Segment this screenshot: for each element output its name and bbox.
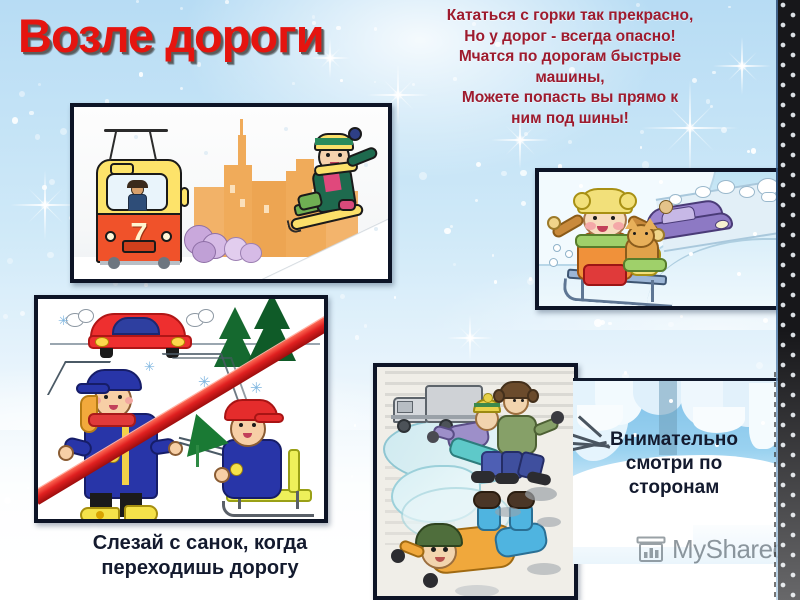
snowflake [374, 27, 378, 31]
snowflake [658, 570, 664, 576]
halftone-edge-fade [778, 0, 800, 600]
snowflake [188, 524, 195, 531]
snowflake [529, 277, 533, 281]
snowflake [7, 258, 13, 264]
snowflake [756, 362, 763, 369]
snowflake [47, 252, 54, 259]
slide-canvas: Возле дороги Кататься с горки так прекра… [0, 0, 800, 600]
snowflake [340, 79, 343, 82]
snowflake [364, 324, 368, 328]
myshared-watermark: MyShared [636, 534, 787, 565]
snowflake [3, 314, 8, 319]
snowflake [12, 117, 19, 124]
image-tram-and-sledding-child[interactable]: 7 [70, 103, 392, 283]
snowflake [355, 335, 359, 339]
snowflake [501, 171, 507, 177]
poem-line-5: Можете попасть вы прямо к [390, 88, 750, 109]
image-girl-pulling-sled-crossed-out[interactable]: ✳ ✳ ✳ ✳ [34, 295, 328, 523]
snowflake [444, 228, 451, 235]
snowflake [336, 26, 341, 31]
snowflake [524, 132, 528, 136]
snowflake [492, 254, 494, 256]
icy-road-illustration [377, 367, 574, 596]
snowflake [19, 91, 25, 97]
snowflake [751, 148, 756, 153]
snowflake [340, 294, 345, 299]
snowflake [763, 318, 768, 323]
snowflake [180, 87, 183, 90]
image-child-with-cat-on-sled-near-road[interactable] [535, 168, 780, 310]
crossed-out-illustration: ✳ ✳ ✳ ✳ [38, 299, 324, 519]
snowflake [640, 130, 644, 134]
snowflake [20, 311, 26, 317]
snowflake [42, 185, 47, 190]
snowflake [568, 140, 572, 144]
caption-right: Внимательно смотри по сторонам [586, 428, 762, 500]
snowflake [354, 424, 356, 426]
snowflake [594, 319, 602, 327]
snowflake [608, 322, 612, 326]
snowflake [476, 162, 482, 168]
snowflake [521, 201, 527, 207]
snowflake [624, 371, 627, 374]
snowflake [453, 263, 456, 266]
page-title: Возле дороги [18, 8, 324, 63]
snowflake [450, 225, 453, 228]
snowflake [9, 588, 15, 594]
snowflake [600, 320, 605, 325]
poem-line-4: машины, [390, 68, 750, 89]
edge-dashed-line [774, 372, 776, 600]
snowflake [475, 199, 479, 203]
presentation-chart-icon [636, 536, 666, 564]
poem-text: Кататься с горки так прекрасно, Но у дор… [390, 6, 750, 130]
snowflake [27, 487, 29, 489]
snowflake [640, 146, 643, 149]
image-children-sliding-on-icy-road[interactable] [373, 363, 578, 600]
snowflake [136, 0, 139, 3]
snowflake [29, 111, 34, 116]
snowflake [4, 497, 11, 504]
snowflake [747, 150, 750, 153]
snowflake [527, 278, 534, 285]
snowflake [292, 82, 295, 85]
snowflake [139, 72, 143, 76]
snowflake [35, 134, 40, 139]
sled-near-road-illustration [539, 172, 776, 306]
poem-line-3: Мчатся по дорогам быстрые [390, 47, 750, 68]
snowflake [374, 81, 376, 83]
poem-line-1: Кататься с горки так прекрасно, [390, 6, 750, 27]
snowflake [60, 128, 67, 135]
poem-line-6: ним под шины! [390, 109, 750, 130]
snowflake [225, 0, 229, 4]
snowflake [351, 475, 354, 478]
snowflake [221, 523, 223, 525]
snowflake [49, 179, 55, 185]
snowflake [520, 170, 527, 177]
snowflake [144, 283, 148, 287]
snowflake [668, 322, 673, 327]
snowflake [419, 172, 427, 180]
snowflake [494, 280, 497, 283]
sparkle-star [447, 315, 493, 361]
poem-line-2: Но у дорог - всегда опасно! [390, 27, 750, 48]
snowflake [394, 296, 397, 299]
caption-left: Слезай с санок, когда переходишь дорогу [40, 531, 360, 581]
snowflake [38, 83, 41, 86]
snowflake [680, 315, 683, 318]
tram-illustration: 7 [74, 107, 388, 279]
myshared-label: MyShared [672, 534, 787, 565]
